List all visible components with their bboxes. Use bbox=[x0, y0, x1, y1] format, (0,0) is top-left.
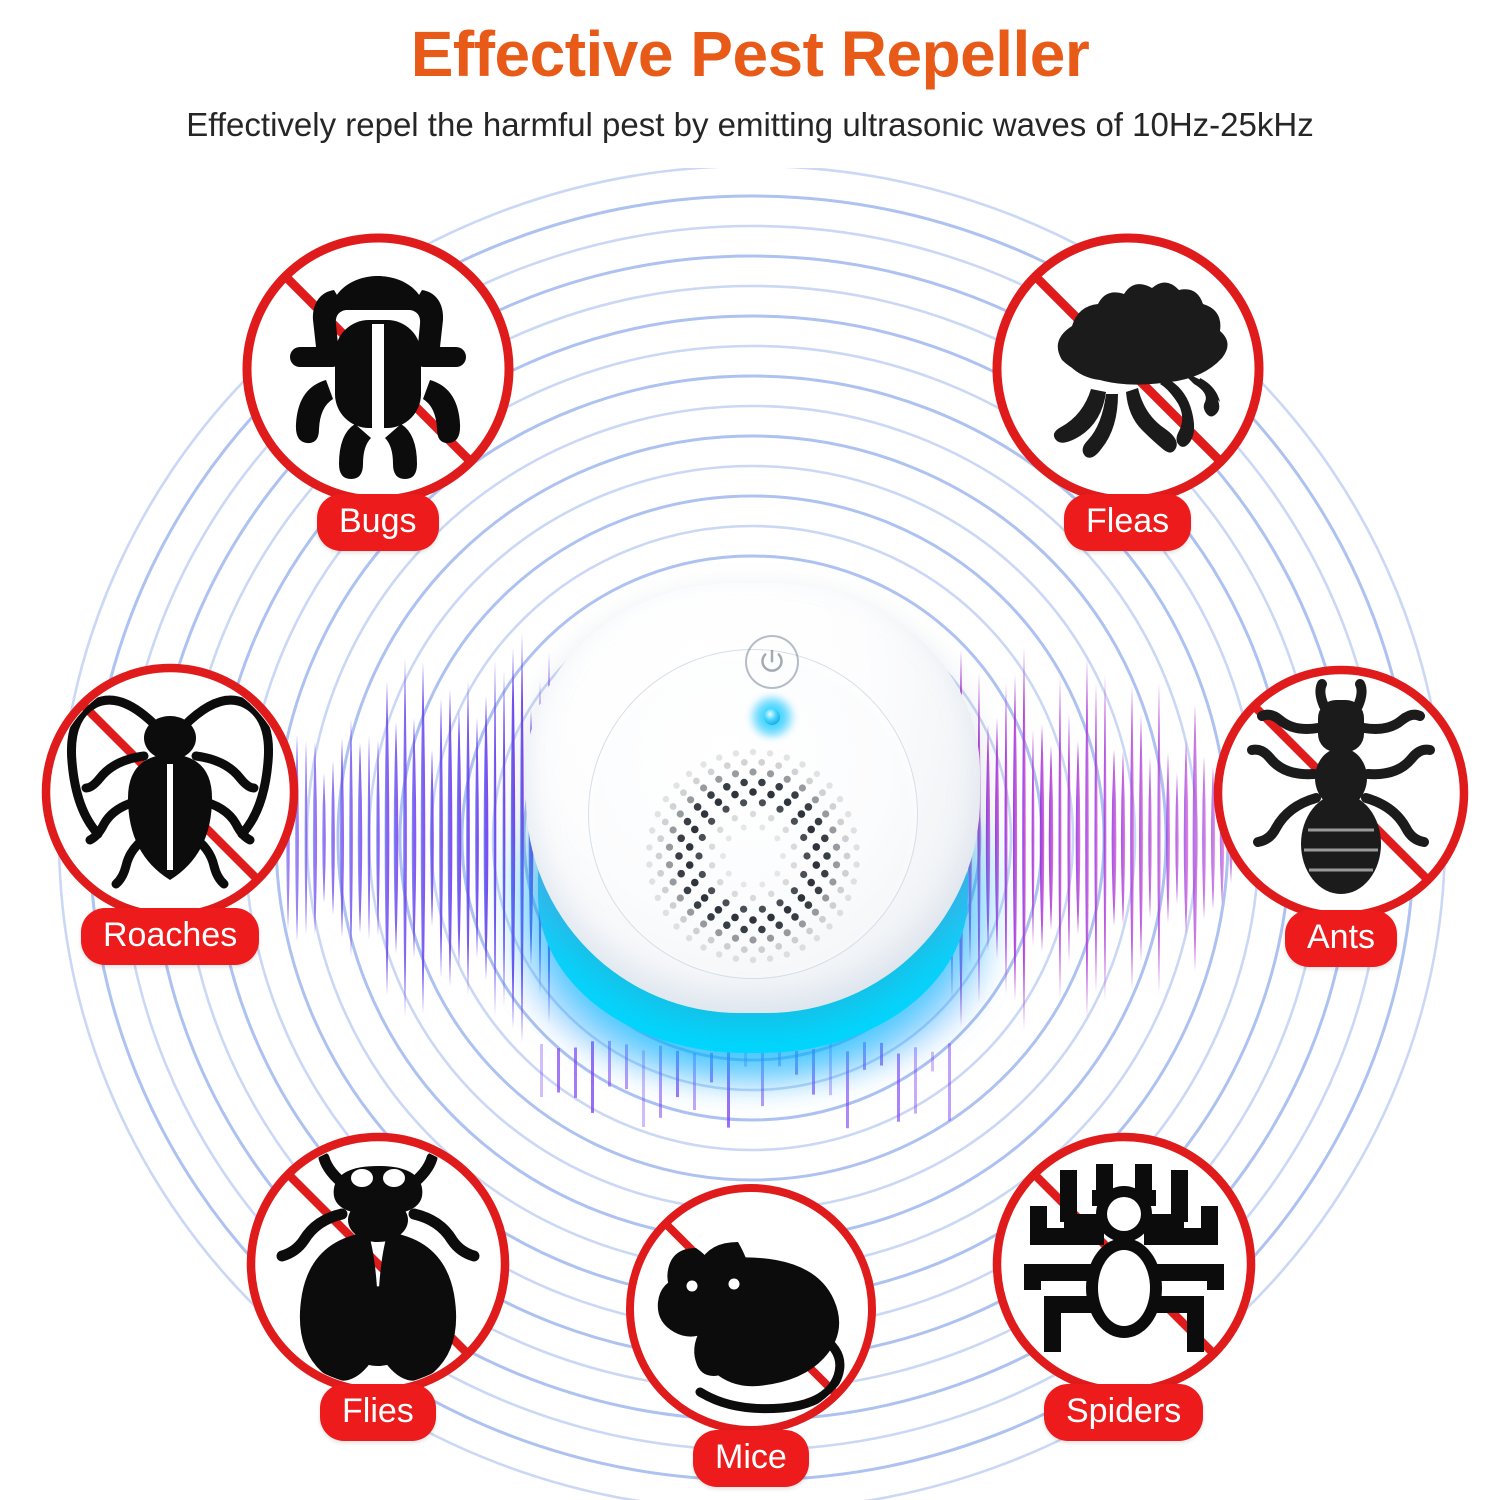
device-body bbox=[526, 583, 980, 1013]
pest-badge-label-ants: Ants bbox=[1285, 910, 1397, 967]
power-button[interactable] bbox=[745, 635, 799, 689]
pest-badge-spiders[interactable]: Spiders bbox=[988, 1128, 1260, 1458]
pest-badge-label-bugs: Bugs bbox=[317, 494, 439, 551]
pest-badge-mice[interactable]: Mice bbox=[622, 1180, 880, 1500]
infographic-canvas: Effective Pest Repeller Effectively repe… bbox=[0, 0, 1500, 1500]
pest-repeller-device[interactable] bbox=[508, 565, 998, 1065]
led-indicator bbox=[764, 709, 780, 725]
page-title: Effective Pest Repeller bbox=[0, 22, 1500, 86]
pest-badge-flies[interactable]: Flies bbox=[242, 1128, 514, 1458]
speaker-grille bbox=[638, 741, 868, 971]
pest-badge-label-roaches: Roaches bbox=[81, 908, 259, 965]
pest-badge-label-flies: Flies bbox=[320, 1384, 436, 1441]
pest-badge-roaches[interactable]: Roaches bbox=[38, 660, 302, 980]
page-subtitle: Effectively repel the harmful pest by em… bbox=[0, 108, 1500, 141]
pest-badge-fleas[interactable]: Fleas bbox=[988, 228, 1268, 558]
pest-badge-label-mice: Mice bbox=[693, 1430, 809, 1487]
pest-badge-label-spiders: Spiders bbox=[1044, 1384, 1203, 1441]
pest-badge-label-fleas: Fleas bbox=[1064, 494, 1191, 551]
pest-badge-bugs[interactable]: Bugs bbox=[238, 228, 518, 558]
pest-badge-ants[interactable]: Ants bbox=[1210, 662, 1472, 982]
header: Effective Pest Repeller Effectively repe… bbox=[0, 0, 1500, 141]
